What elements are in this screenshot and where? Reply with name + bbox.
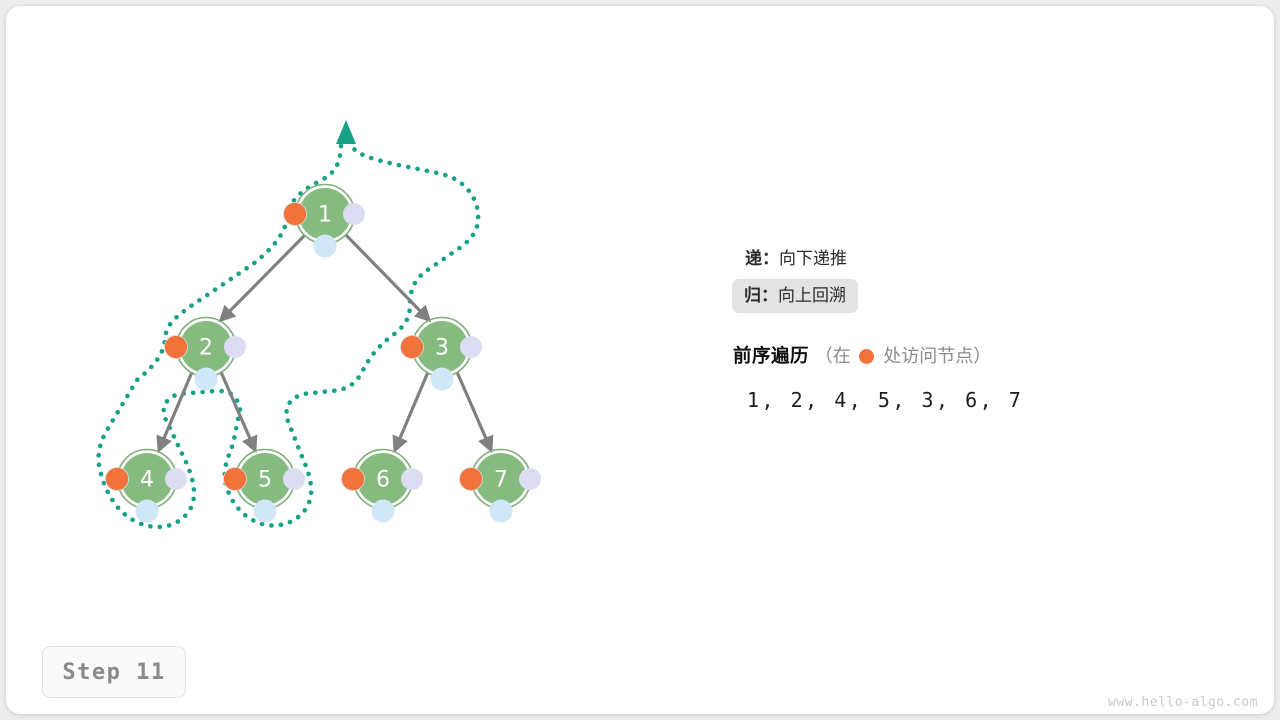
tree-node-2[interactable]: 2 [165,318,247,391]
edge-2-5 [221,372,255,450]
watermark: www.hello-algo.com [1108,695,1258,710]
legend-backtrack-text: 向上回溯 [778,286,846,306]
visit-dot-icon [460,468,483,491]
right-dot-icon [283,468,305,490]
bottom-dot-icon [431,368,454,391]
node-value-label: 1 [318,203,332,228]
bottom-dot-icon [372,500,395,523]
tree-node-4[interactable]: 4 [106,450,188,523]
edge-1-2 [221,235,305,320]
visit-dot-icon [284,203,307,226]
visit-dot-icon [401,336,424,359]
bottom-dot-icon [195,368,218,391]
bottom-dot-icon [490,500,513,523]
right-dot-icon [519,468,541,490]
node-value-label: 3 [435,336,449,361]
right-dot-icon [401,468,423,490]
node-value-label: 7 [494,468,508,493]
node-value-label: 2 [199,336,213,361]
slide-card: 1 2 3 [6,6,1274,714]
visit-dot-icon [106,468,129,491]
tree-nodes: 1 2 3 [106,185,542,523]
traversal-note-close: 处访问节点） [883,346,991,367]
bottom-dot-icon [314,235,337,258]
tree-node-5[interactable]: 5 [224,450,306,523]
diagram-stage: 1 2 3 [6,6,1274,714]
legend-item-recurse: 递：向下递推 [733,242,859,276]
right-dot-icon [165,468,187,490]
visit-dot-icon [342,468,365,491]
traversal-title: 前序遍历 [733,346,809,367]
tree-node-7[interactable]: 7 [460,450,542,523]
bottom-dot-icon [136,500,159,523]
legend-recurse-keyword: 递： [745,249,779,269]
legend-backtrack-keyword: 归： [744,286,778,306]
bottom-dot-icon [254,500,277,523]
legend-item-backtrack: 归：向上回溯 [732,279,858,313]
orange-dot-icon [859,349,874,364]
edge-3-7 [457,372,491,450]
tree-node-6[interactable]: 6 [342,450,424,523]
tree-node-3[interactable]: 3 [401,318,483,391]
right-dot-icon [460,336,482,358]
right-dot-icon [224,336,246,358]
edge-3-6 [395,372,428,450]
node-value-label: 6 [376,468,390,493]
node-value-label: 5 [258,468,272,493]
visit-dot-icon [165,336,188,359]
legend-recurse-text: 向下递推 [779,249,847,269]
node-value-label: 4 [140,468,154,493]
step-badge: Step 11 [42,646,186,698]
traversal-note-open: （在 [815,346,851,367]
traversal-sequence: 1, 2, 4, 5, 3, 6, 7 [747,388,1023,412]
right-dot-icon [343,203,365,225]
up-triangle-icon [336,120,356,144]
current-position-marker [336,120,356,144]
traversal-title-row: 前序遍历 （在 处访问节点） [733,342,991,368]
visit-dot-icon [224,468,247,491]
edge-1-3 [346,235,429,320]
binary-tree-diagram: 1 2 3 [6,6,1274,714]
